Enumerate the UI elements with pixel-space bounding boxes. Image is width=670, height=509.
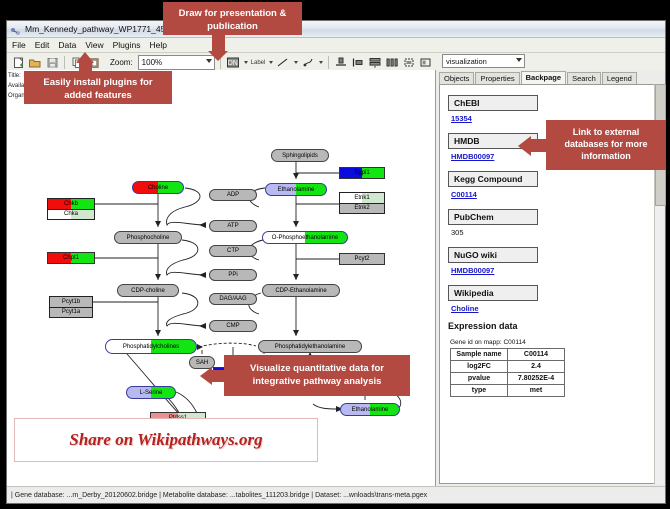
meta-title: Title:	[8, 71, 25, 81]
callout-draw-for-publication: Draw for presentation & publication	[163, 2, 302, 35]
table-row: pvalue 7.80252E-4	[451, 373, 565, 385]
callout-install-plugins: Easily install plugins for added feature…	[24, 71, 172, 104]
node-label: CDP-choline	[131, 288, 165, 294]
menu-item-help[interactable]: Help	[150, 40, 167, 50]
node-cdp-ethanolamine[interactable]: CDP-Ethanolamine	[262, 284, 340, 297]
node-cdp-choline[interactable]: CDP-choline	[117, 284, 179, 297]
node-phosphatidylcholines[interactable]: Phosphatidylcholines	[105, 339, 197, 354]
callout-visualize-arrowhead	[200, 367, 212, 385]
gene-group-etnk[interactable]: Etnk1 Etnk2	[339, 192, 385, 214]
node-label: Phosphocholine	[127, 235, 170, 241]
save-icon[interactable]	[45, 56, 59, 70]
db-header-wikipedia: Wikipedia	[448, 285, 538, 301]
gene-label: Etnk1	[354, 195, 369, 201]
node-atp[interactable]: ATP	[209, 220, 257, 232]
gene-sgpl1[interactable]: Sgpl1	[339, 167, 385, 179]
menu-item-file[interactable]: File	[12, 40, 26, 50]
node-ctp[interactable]: CTP	[209, 245, 257, 257]
menu-bar: File Edit Data View Plugins Help	[7, 38, 665, 53]
tab-backpage[interactable]: Backpage	[521, 71, 566, 85]
table-row: type met	[451, 385, 565, 397]
stack-vertical-icon[interactable]	[368, 56, 382, 70]
node-label: PPi	[228, 272, 237, 278]
toolbar-separator-3	[328, 56, 329, 69]
cell-key: pvalue	[451, 373, 508, 385]
chevron-down-icon-line[interactable]	[294, 61, 298, 64]
gene-group-chkb-chka[interactable]: Chkb Chka	[47, 198, 95, 220]
callout-link-arrowhead	[518, 136, 531, 156]
node-cmp[interactable]: CMP	[209, 320, 257, 332]
meta-organism: Organ	[8, 91, 25, 101]
db-header-pubchem: PubChem	[448, 209, 538, 225]
visualization-select[interactable]: visualization	[442, 54, 525, 68]
menu-item-data[interactable]: Data	[58, 40, 76, 50]
table-row: Sample name C00114	[451, 349, 565, 361]
cell-value: met	[508, 385, 565, 397]
node-label: Ethanolamine	[278, 187, 315, 193]
db-link-kegg-compound[interactable]: C00114	[451, 190, 654, 199]
menu-item-view[interactable]: View	[85, 40, 103, 50]
node-label: Sphingolipids	[282, 153, 318, 159]
node-label: CTP	[227, 248, 239, 254]
callout-draw-shaft	[212, 35, 225, 51]
callout-external-databases: Link to external databases for more info…	[546, 120, 666, 170]
gene-chkb[interactable]: Chkb	[48, 199, 94, 209]
interaction-icon[interactable]	[301, 56, 315, 70]
share-banner: Share on Wikipathways.org	[14, 418, 318, 462]
node-label: Phosphatidylethanolamine	[275, 344, 345, 350]
gene-label: Chpt1	[63, 255, 79, 261]
node-label: ATP	[227, 223, 238, 229]
zoom-label: Zoom:	[110, 58, 133, 67]
node-label: DAG/AAG	[219, 296, 246, 302]
node-phosphocholine[interactable]: Phosphocholine	[114, 231, 182, 244]
node-dag-aag[interactable]: DAG/AAG	[209, 293, 257, 305]
callout-draw-arrowhead	[208, 51, 228, 61]
callout-link-shaft	[530, 139, 547, 152]
status-text: | Gene database: ...m_Derby_20120602.bri…	[11, 492, 427, 499]
chevron-down-icon-interaction[interactable]	[319, 61, 323, 64]
db-value-pubchem: 305	[451, 228, 654, 237]
node-sphingolipids[interactable]: Sphingolipids	[271, 149, 329, 162]
gene-chpt1[interactable]: Chpt1	[47, 252, 95, 264]
node-label: CDP-Ethanolamine	[275, 288, 326, 294]
node-label: Phosphatidylcholines	[123, 344, 179, 350]
callout-plugins-arrowhead	[76, 52, 94, 63]
node-label: Ethanolamine	[352, 407, 389, 413]
open-folder-icon[interactable]	[28, 56, 42, 70]
gene-id-line: Gene id on mapp: C00114	[450, 339, 654, 346]
node-label: ADP	[227, 192, 239, 198]
db-link-wikipedia[interactable]: Choline	[451, 304, 654, 313]
zoom-select[interactable]: 100%	[138, 55, 215, 70]
pathway-meta: Title: Availa Organ	[8, 71, 25, 101]
menu-item-plugins[interactable]: Plugins	[113, 40, 141, 50]
screenshot-root: Mm_Kennedy_pathway_WP1771_45176.gpml Fil…	[0, 0, 670, 509]
cell-value: 2.4	[508, 361, 565, 373]
distribute-icon[interactable]	[385, 56, 399, 70]
db-header-chebi: ChEBI	[448, 95, 538, 111]
gene-label: Etnk2	[354, 205, 369, 211]
db-header-nugo-wiki: NuGO wiki	[448, 247, 538, 263]
node-label: CMP	[226, 323, 239, 329]
gene-etnk2[interactable]: Etnk2	[340, 203, 384, 214]
window-titlebar: Mm_Kennedy_pathway_WP1771_45176.gpml	[7, 21, 665, 38]
node-adp[interactable]: ADP	[209, 189, 257, 201]
node-choline-top[interactable]: Choline	[132, 181, 184, 194]
node-label: SAH	[196, 360, 208, 366]
gene-chka[interactable]: Chka	[48, 209, 94, 220]
gene-pcyt1a[interactable]: Pcyt1a	[50, 307, 92, 318]
node-label: Choline	[148, 185, 168, 191]
align-left-icon[interactable]	[351, 56, 365, 70]
expression-table: Sample name C00114 log2FC 2.4 pvalue 7.8…	[450, 348, 565, 397]
chevron-down-icon-label[interactable]	[269, 61, 273, 64]
ungroup-icon[interactable]	[419, 56, 433, 70]
chevron-down-icon-datanode[interactable]	[244, 61, 248, 64]
node-label: O-Phosphoethanolamine	[272, 235, 338, 241]
pathvisio-icon	[10, 24, 21, 35]
svg-text:DN: DN	[227, 60, 237, 67]
node-o-phosphoethanolamine[interactable]: O-Phosphoethanolamine	[262, 231, 348, 244]
node-l-serine-left[interactable]: L-Serine	[126, 386, 176, 399]
zoom-value: 100%	[142, 58, 162, 67]
align-top-icon[interactable]	[334, 56, 348, 70]
node-ethanolamine-top[interactable]: Ethanolamine	[265, 183, 327, 196]
table-row: log2FC 2.4	[451, 361, 565, 373]
new-file-icon[interactable]	[11, 56, 25, 70]
group-icon[interactable]	[402, 56, 416, 70]
visualization-value: visualization	[446, 57, 487, 66]
cell-value: C00114	[508, 349, 565, 361]
cell-key: log2FC	[451, 361, 508, 373]
db-link-nugo-wiki[interactable]: HMDB00097	[451, 266, 654, 275]
cell-value: 7.80252E-4	[508, 373, 565, 385]
gene-etnk1[interactable]: Etnk1	[340, 193, 384, 203]
chevron-down-icon-visualization	[516, 58, 522, 62]
callout-visualize-data: Visualize quantitative data for integrat…	[224, 355, 410, 396]
node-label: L-Serine	[140, 390, 163, 396]
line-icon[interactable]	[276, 56, 290, 70]
gene-pcyt2[interactable]: Pcyt2	[339, 253, 385, 265]
gene-label: Pcyt1a	[62, 309, 80, 315]
node-phosphatidylethanolamine[interactable]: Phosphatidylethanolamine	[258, 340, 362, 353]
gene-label: Pcyt2	[354, 256, 369, 262]
label-tool-text[interactable]: Label	[251, 60, 266, 66]
cell-key: Sample name	[451, 349, 508, 361]
cell-key: type	[451, 385, 508, 397]
toolbar-separator	[64, 56, 65, 69]
gene-label: Chka	[64, 211, 78, 217]
node-ppi[interactable]: PPi	[209, 269, 257, 281]
expression-data-heading: Expression data	[448, 321, 654, 331]
gene-label: Sgpl1	[354, 170, 369, 176]
gene-group-pcyt[interactable]: Pcyt1b Pcyt1a	[49, 296, 93, 318]
status-bar: | Gene database: ...m_Derby_20120602.bri…	[7, 486, 665, 503]
share-banner-text: Share on Wikipathways.org	[69, 430, 262, 450]
node-ethanolamine-bottom[interactable]: Ethanolamine	[340, 403, 400, 416]
db-header-kegg-compound: Kegg Compound	[448, 171, 538, 187]
meta-available: Availa	[8, 81, 25, 91]
menu-item-edit[interactable]: Edit	[35, 40, 50, 50]
gene-label: Chkb	[64, 201, 78, 207]
gene-pcyt1b[interactable]: Pcyt1b	[50, 297, 92, 307]
gene-label: Pcyt1b	[62, 299, 80, 305]
